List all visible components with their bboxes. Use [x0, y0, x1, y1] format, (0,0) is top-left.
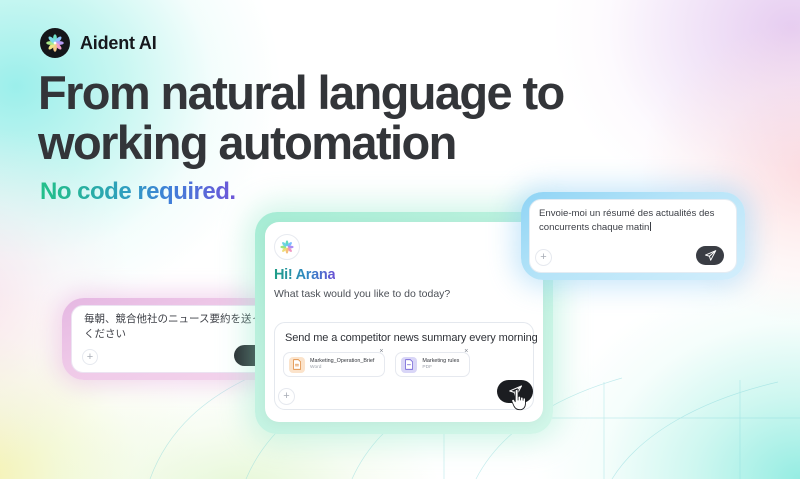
attachment-chip[interactable]: Marketing_Operation_Brief Word × — [283, 352, 385, 377]
send-button-french[interactable] — [696, 246, 724, 265]
greeting-title: Hi! Arana — [274, 267, 335, 283]
attachment-chip-list: Marketing_Operation_Brief Word × Marketi… — [283, 352, 470, 377]
prompt-text-french-line2: concurrents chaque matin — [539, 222, 649, 233]
attachment-file-name: Marketing_Operation_Brief — [310, 358, 374, 365]
prompt-text-japanese-line1: 毎朝、競合他社のニュース要約を送っ — [84, 312, 264, 327]
page-title: From natural language to working automat… — [38, 68, 738, 168]
attach-plus-button-french[interactable]: + — [535, 249, 552, 266]
aident-flower-logo-icon — [40, 28, 70, 58]
close-icon[interactable]: × — [464, 348, 468, 355]
close-icon[interactable]: × — [379, 348, 383, 355]
attachment-file-type: PDF — [422, 365, 459, 371]
attach-plus-button-japanese[interactable]: + — [82, 349, 98, 365]
prompt-text-japanese: 毎朝、競合他社のニュース要約を送っ ください — [84, 312, 264, 342]
prompt-text-french: Envoie-moi un résumé des actualités des … — [539, 207, 731, 236]
text-caret — [650, 222, 651, 231]
prompt-text-french-line1: Envoie-moi un résumé des actualités des — [539, 207, 731, 221]
attachment-chip[interactable]: Marketing rules PDF × — [395, 352, 470, 377]
attachment-file-name: Marketing rules — [422, 358, 459, 365]
prompt-text-french-line2-wrap: concurrents chaque matin — [539, 221, 731, 235]
pdf-document-icon — [401, 357, 417, 373]
aident-flower-avatar-icon — [274, 234, 300, 260]
brand-name: Aident AI — [80, 33, 157, 54]
attachment-chip-text: Marketing rules PDF — [422, 358, 459, 371]
attach-plus-button-main[interactable]: + — [278, 388, 295, 405]
page-subtitle: No code required. — [40, 178, 236, 206]
send-paper-plane-icon — [704, 249, 717, 262]
greeting-subtext: What task would you like to do today? — [274, 288, 450, 300]
attachment-file-type: Word — [310, 365, 374, 371]
hero-banner: Aident AI From natural language to worki… — [0, 0, 800, 479]
hand-pointer-cursor-icon — [510, 389, 528, 411]
attachment-chip-text: Marketing_Operation_Brief Word — [310, 358, 374, 371]
prompt-text-japanese-line2: ください — [84, 327, 264, 342]
word-document-icon — [289, 357, 305, 373]
brand-logo-group[interactable]: Aident AI — [40, 28, 157, 58]
composer-prompt-text: Send me a competitor news summary every … — [285, 332, 538, 344]
